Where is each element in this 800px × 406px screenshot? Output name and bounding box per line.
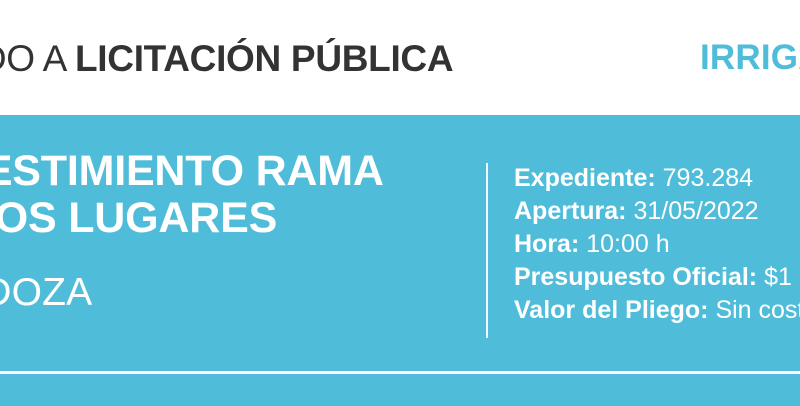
tender-announcement-banner: LLAMADO A LICITACIÓN PÚBLICA IRRIGACIÓN … <box>0 0 800 406</box>
brand-logotype: IRRIGACIÓN <box>700 40 800 75</box>
detail-expediente-value: 793.284 <box>663 164 753 192</box>
detail-hora: Hora: 10:00 h <box>514 228 800 261</box>
detail-presupuesto: Presupuesto Oficial: $1 <box>514 261 800 294</box>
project-headline-line-1: REVESTIMIENTO RAMA <box>0 148 384 195</box>
detail-apertura-label: Apertura: <box>514 197 627 225</box>
detail-expediente-label: Expediente: <box>514 164 656 192</box>
header-kicker-light: LLAMADO A <box>0 38 75 79</box>
detail-apertura: Apertura: 31/05/2022 <box>514 195 800 228</box>
bottom-accent-strip <box>0 374 800 406</box>
detail-presupuesto-label: Presupuesto Oficial: <box>514 263 757 291</box>
detail-apertura-value: 31/05/2022 <box>633 197 758 225</box>
detail-hora-label: Hora: <box>514 230 579 258</box>
detail-valor-pliego-value: Sin costo <box>715 296 800 324</box>
project-location: MENDOZA <box>0 273 92 312</box>
project-headline: REVESTIMIENTO RAMA VARIOS LUGARES <box>0 148 384 242</box>
detail-hora-value: 10:00 h <box>586 230 669 258</box>
header-kicker: LLAMADO A LICITACIÓN PÚBLICA <box>0 40 453 77</box>
header-strip: LLAMADO A LICITACIÓN PÚBLICA IRRIGACIÓN <box>0 0 800 115</box>
vertical-divider <box>486 163 488 338</box>
tender-details-list: Expediente: 793.284 Apertura: 31/05/2022… <box>514 162 800 327</box>
detail-expediente: Expediente: 793.284 <box>514 162 800 195</box>
detail-presupuesto-value: $1 <box>764 263 792 291</box>
header-kicker-strong: LICITACIÓN PÚBLICA <box>75 38 453 79</box>
detail-valor-pliego-label: Valor del Pliego: <box>514 296 709 324</box>
project-headline-line-2: VARIOS LUGARES <box>0 195 384 242</box>
main-blue-panel: REVESTIMIENTO RAMA VARIOS LUGARES MENDOZ… <box>0 115 800 372</box>
detail-valor-pliego: Valor del Pliego: Sin costo <box>514 294 800 327</box>
